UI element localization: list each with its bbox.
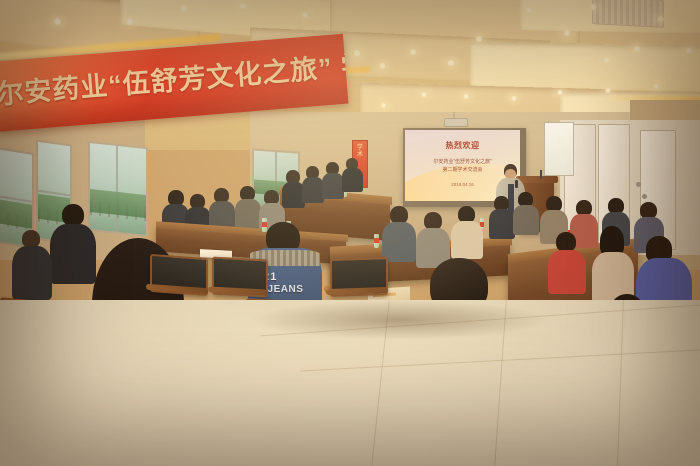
slide-title: 热烈欢迎	[405, 140, 520, 151]
wall-scroll-text: 学术	[355, 145, 365, 159]
projector	[444, 118, 468, 127]
slide-subtitle-1: 尔安药业“伍舒芳文化之旅”	[405, 158, 520, 165]
wall-whiteboard	[544, 122, 574, 176]
podium-microphone-icon	[540, 170, 542, 179]
window-left-near	[88, 141, 148, 237]
slide-subtitle-2: 第二期学术交流会	[405, 166, 520, 173]
handheld-microphone-icon	[515, 180, 518, 188]
floor-shadow	[250, 300, 550, 340]
conference-room-photo: 尔安药业“伍舒芳文化之旅” 学术交流会 学术 热烈欢迎 尔安药业“伍舒芳文化之旅…	[0, 0, 700, 466]
